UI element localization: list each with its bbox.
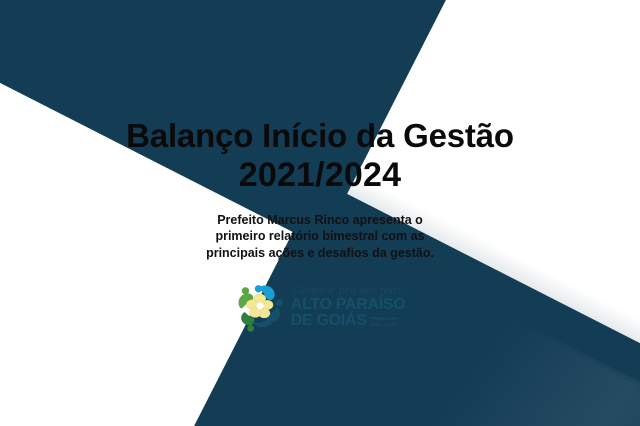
logo-wordmark: Gente é pra ser feliz! ALTO PARAÍSO DE G… — [291, 285, 407, 330]
poster-subtitle-line-3: principais ações e desafios da gestão. — [206, 245, 434, 262]
poster-canvas: Balanço Início da Gestão 2021/2024 Prefe… — [0, 0, 640, 426]
flower-people-circle-icon — [234, 281, 286, 333]
logo-tagline: Gente é pra ser feliz! — [293, 285, 407, 296]
logo-subtext-line-2: 2021 - 2024 — [371, 322, 400, 328]
poster-title-line-2: 2021/2024 — [239, 156, 402, 194]
poster-subtitle-line-1: Prefeito Marcus Rinco apresenta o — [206, 212, 434, 229]
poster-title-line-1: Balanço Início da Gestão — [126, 118, 514, 154]
logo-name-line-1: ALTO PARAÍSO — [291, 297, 407, 313]
logo-name-line-2: DE GOIÁS — [291, 313, 367, 329]
poster-content: Balanço Início da Gestão 2021/2024 Prefe… — [0, 0, 640, 426]
logo-name-row-2: DE GOIÁS PREFEITURA 2021 - 2024 — [291, 313, 407, 329]
logo-subtext: PREFEITURA 2021 - 2024 — [371, 316, 400, 330]
poster-subtitle: Prefeito Marcus Rinco apresenta o primei… — [206, 212, 434, 262]
poster-subtitle-line-2: primeiro relatório bimestral com as — [206, 228, 434, 245]
city-hall-logo: Gente é pra ser feliz! ALTO PARAÍSO DE G… — [234, 281, 407, 333]
